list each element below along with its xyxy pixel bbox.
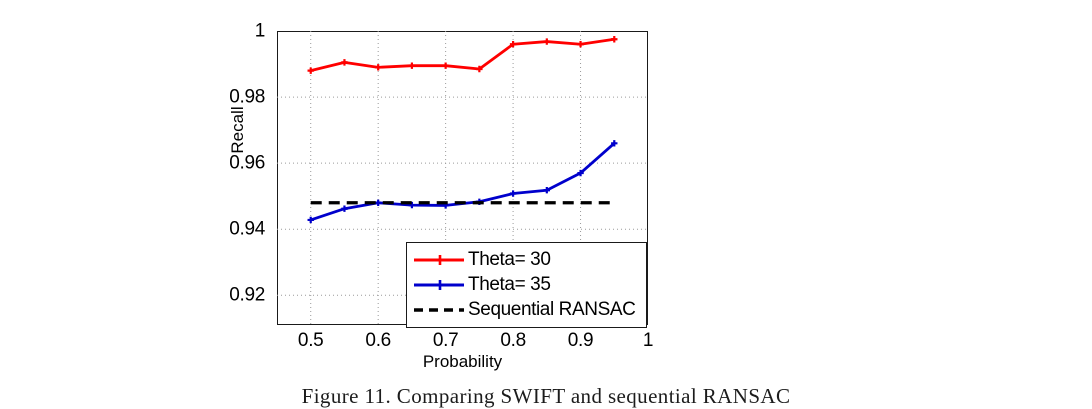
- series-1: [308, 36, 618, 74]
- legend-swatch-icon: [413, 302, 465, 318]
- x-axis-title: Probability: [277, 352, 648, 372]
- y-tick-label: 0.94: [229, 220, 265, 239]
- data-point-marker: [375, 64, 381, 70]
- legend-label: Theta= 35: [468, 274, 551, 296]
- legend-item[interactable]: Sequential RANSAC: [413, 297, 640, 322]
- chart-legend: Theta= 30Theta= 35Sequential RANSAC: [406, 242, 647, 328]
- data-point-marker: [341, 206, 347, 212]
- legend-swatch-icon: [413, 277, 465, 293]
- data-point-marker: [442, 62, 448, 68]
- figure-root: 0.920.940.960.981 Recall 0.50.60.70.80.9…: [0, 0, 1092, 408]
- data-point-marker: [375, 200, 381, 206]
- y-axis-title: Recall: [228, 75, 248, 185]
- figure-caption: Figure 11. Comparing SWIFT and sequentia…: [0, 384, 1092, 409]
- data-point-marker: [341, 59, 347, 65]
- series-2: [308, 140, 618, 223]
- x-tick-label: 0.5: [298, 330, 324, 352]
- data-point-marker: [510, 190, 516, 196]
- x-tick-label: 0.7: [433, 330, 459, 352]
- series-line: [311, 143, 615, 220]
- data-point-marker: [544, 38, 550, 44]
- x-tick-label: 1: [643, 330, 653, 352]
- x-tick-label: 0.8: [500, 330, 526, 352]
- data-point-marker: [308, 217, 314, 223]
- series-line: [311, 39, 615, 70]
- legend-item[interactable]: Theta= 35: [413, 272, 640, 297]
- data-point-marker: [577, 41, 583, 47]
- x-tick-label: 0.9: [568, 330, 594, 352]
- legend-swatch-icon: [413, 252, 465, 268]
- x-tick-label: 0.6: [365, 330, 391, 352]
- legend-item[interactable]: Theta= 30: [413, 247, 640, 272]
- legend-label: Theta= 30: [468, 249, 551, 271]
- legend-label: Sequential RANSAC: [468, 299, 635, 321]
- data-point-marker: [409, 62, 415, 68]
- y-tick-label: 1: [255, 22, 265, 41]
- y-tick-label: 0.92: [229, 286, 265, 305]
- data-point-marker: [308, 67, 314, 73]
- data-point-marker: [611, 36, 617, 42]
